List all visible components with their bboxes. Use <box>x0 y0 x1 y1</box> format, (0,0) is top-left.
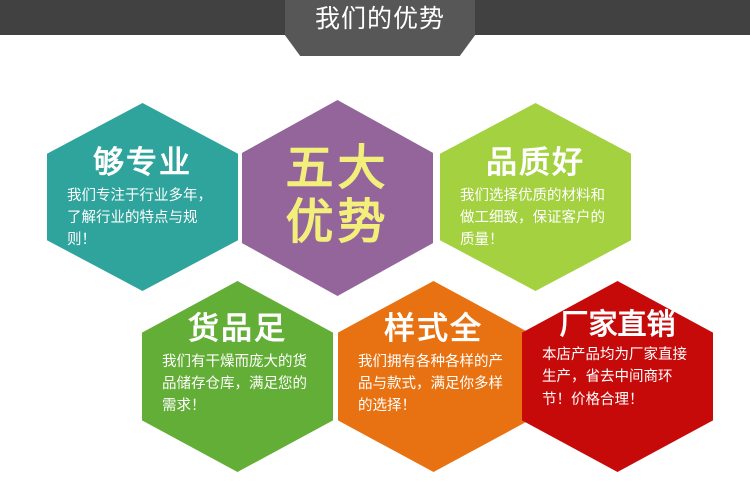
hexagon-body: 我们选择优质的材料和做工细致，保证客户的质量！ <box>454 185 617 251</box>
hexagon-center-title-line1: 五大 <box>256 142 419 196</box>
hexagon-title: 货品足 <box>156 313 319 346</box>
hexagon-body: 我们拥有各种各样的产品与款式，满足你多样的选择！ <box>352 351 515 417</box>
hexagon-pin-zhi-hao[interactable]: 品质好 我们选择优质的材料和做工细致，保证客户的质量！ <box>440 103 631 291</box>
hexagon-wu-da-you-shi[interactable]: 五大 优势 <box>242 100 433 296</box>
hexagon-title: 品质好 <box>454 147 617 180</box>
hexagon-body: 我们有干燥而庞大的货品储存仓库，满足您的需求！ <box>156 351 319 417</box>
hexagon-body: 本店产品均为厂家直接生产，省去中间商环节！价格合理！ <box>536 344 699 410</box>
hexagon-title: 厂家直销 <box>536 309 699 339</box>
hexagon-huo-pin-zu[interactable]: 货品足 我们有干燥而庞大的货品储存仓库，满足您的需求！ <box>142 281 333 472</box>
hexagon-body: 我们专注于行业多年，了解行业的特点与规则！ <box>61 185 224 251</box>
hexagon-title: 样式全 <box>352 313 515 346</box>
page-title: 我们的优势 <box>285 0 475 38</box>
hexagon-chang-jia-zhi-xiao[interactable]: 厂家直销 本店产品均为厂家直接生产，省去中间商环节！价格合理！ <box>522 281 713 472</box>
hexagon-yang-shi-quan[interactable]: 样式全 我们拥有各种各样的产品与款式，满足你多样的选择！ <box>338 281 529 472</box>
hexagon-title: 够专业 <box>61 147 224 180</box>
infographic-canvas: 我们的优势 够专业 我们专注于行业多年，了解行业的特点与规则！ 五大 优势 品质… <box>0 0 750 491</box>
hexagon-gou-zhuan-ye[interactable]: 够专业 我们专注于行业多年，了解行业的特点与规则！ <box>47 103 238 291</box>
hexagon-center-title-line2: 优势 <box>256 196 419 250</box>
